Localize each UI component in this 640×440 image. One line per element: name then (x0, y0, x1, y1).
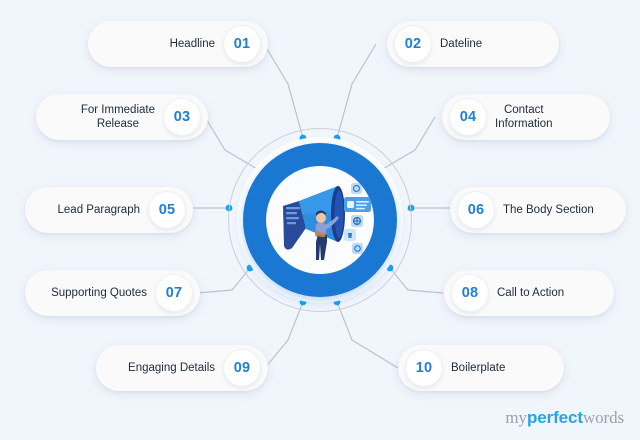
step-number-badge: 10 (406, 350, 442, 386)
step-number-badge: 09 (224, 350, 260, 386)
step-number-badge: 06 (458, 192, 494, 228)
step-number-badge: 02 (395, 26, 431, 62)
step-label: Dateline (431, 37, 491, 51)
megaphone-announcement-illustration (266, 166, 374, 274)
step-pill-07[interactable]: Supporting Quotes07 (25, 270, 200, 316)
connector-line (390, 268, 443, 293)
logo-part-my: my (505, 408, 527, 427)
step-pill-09[interactable]: Engaging Details09 (96, 345, 268, 391)
step-label: Supporting Quotes (42, 286, 156, 300)
connector-line (264, 44, 303, 138)
step-label: Contact Information (486, 103, 562, 132)
step-label: For Immediate Release (72, 103, 164, 132)
step-label: Engaging Details (119, 361, 224, 375)
connector-line (337, 302, 398, 368)
connector-line (197, 268, 250, 293)
step-label: Lead Paragraph (49, 203, 149, 217)
step-number-badge: 01 (224, 26, 260, 62)
step-number-badge: 03 (164, 99, 200, 135)
step-label: Call to Action (488, 286, 573, 300)
step-pill-03[interactable]: For Immediate Release03 (36, 94, 208, 140)
logo-part-words: words (583, 408, 624, 427)
hub-inner-disc (266, 166, 374, 274)
step-pill-01[interactable]: Headline01 (88, 21, 268, 67)
step-pill-08[interactable]: 08Call to Action (444, 270, 614, 316)
step-number-badge: 04 (450, 99, 486, 135)
connector-line (265, 302, 303, 368)
brand-logo: myperfectwords (505, 408, 624, 428)
connector-line (337, 44, 376, 138)
step-pill-10[interactable]: 10Boilerplate (398, 345, 564, 391)
step-number-badge: 07 (156, 275, 192, 311)
step-pill-06[interactable]: 06The Body Section (450, 187, 626, 233)
step-label: Headline (161, 37, 224, 51)
step-number-badge: 08 (452, 275, 488, 311)
step-label: The Body Section (494, 203, 603, 217)
infographic-canvas: Headline0102DatelineFor Immediate Releas… (0, 0, 640, 440)
step-pill-02[interactable]: 02Dateline (387, 21, 559, 67)
step-pill-04[interactable]: 04Contact Information (442, 94, 610, 140)
step-number-badge: 05 (149, 192, 185, 228)
logo-part-perfect: perfect (527, 408, 583, 427)
step-pill-05[interactable]: Lead Paragraph05 (25, 187, 193, 233)
step-label: Boilerplate (442, 361, 514, 375)
